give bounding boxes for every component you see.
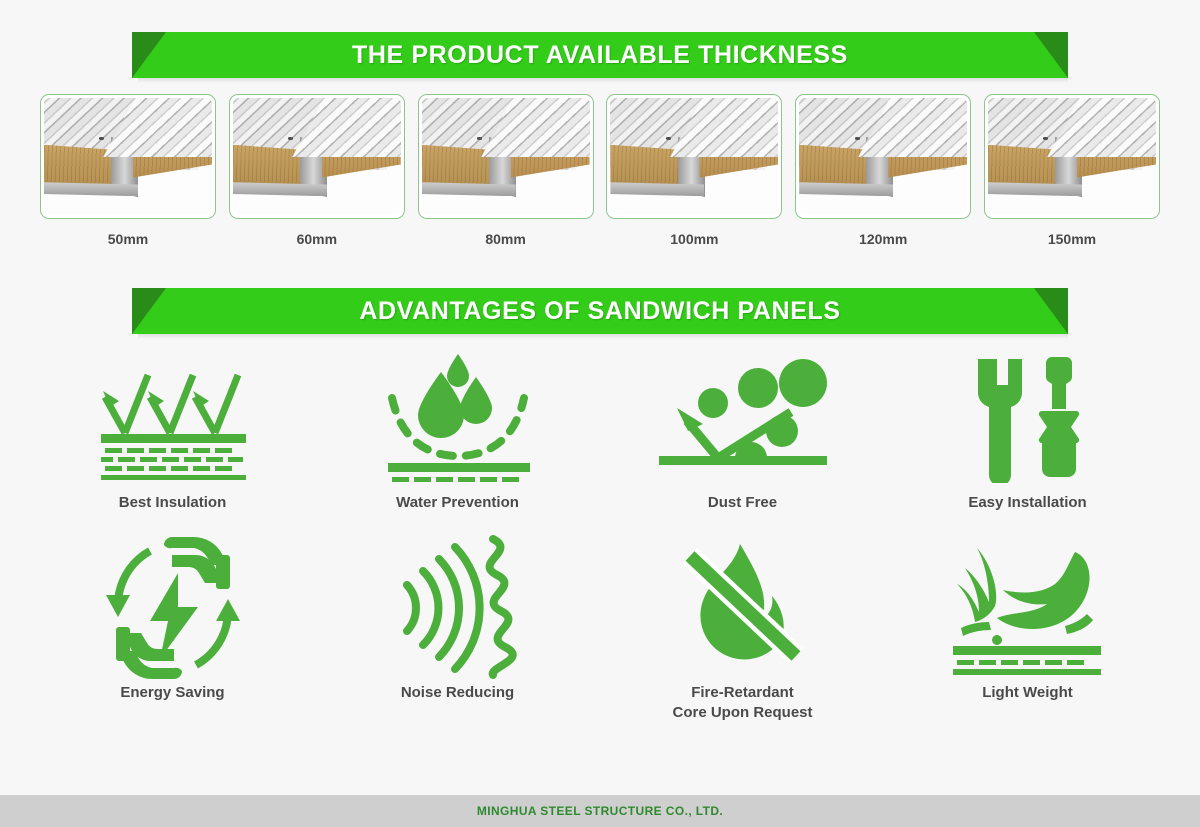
thickness-label: 120mm bbox=[859, 231, 907, 247]
wrench-screwdriver-icon bbox=[960, 350, 1095, 485]
thickness-item[interactable]: 80mm bbox=[418, 94, 594, 247]
thickness-thumbnail-row: 50mm 60mm bbox=[40, 94, 1160, 247]
ribbon-left-fold bbox=[132, 32, 166, 78]
sandwich-panel-thumbnail[interactable] bbox=[795, 94, 971, 219]
company-name: MINGHUA STEEL STRUCTURE CO., LTD. bbox=[477, 804, 723, 818]
advantage-item-light-weight[interactable]: Light Weight bbox=[885, 540, 1170, 740]
thickness-item[interactable]: 150mm bbox=[984, 94, 1160, 247]
advantage-label-line1: Energy Saving bbox=[120, 684, 224, 701]
sandwich-panel-thumbnail[interactable] bbox=[418, 94, 594, 219]
advantage-label-line1: Water Prevention bbox=[396, 494, 519, 511]
screw-icon bbox=[1043, 137, 1048, 140]
ribbon-right-fold bbox=[1034, 288, 1068, 334]
advantage-label-line1: Light Weight bbox=[982, 684, 1073, 701]
advantage-label: Noise Reducing bbox=[401, 683, 514, 703]
footer-bar: MINGHUA STEEL STRUCTURE CO., LTD. bbox=[0, 795, 1200, 827]
thickness-banner-ribbon: THE PRODUCT AVAILABLE THICKNESS bbox=[132, 32, 1068, 78]
thickness-label: 150mm bbox=[1048, 231, 1096, 247]
screw-icon bbox=[666, 137, 671, 140]
advantage-label: Fire-Retardant Core Upon Request bbox=[672, 683, 812, 722]
panel-bottom-metal bbox=[988, 182, 1082, 196]
panel-illustration bbox=[422, 98, 590, 215]
ribbon-left-fold bbox=[132, 288, 166, 334]
dust-particles-icon bbox=[655, 350, 830, 485]
advantage-label: Water Prevention bbox=[396, 493, 519, 513]
advantage-item-easy-installation[interactable]: Easy Installation bbox=[885, 350, 1170, 540]
panel-illustration bbox=[44, 98, 212, 215]
advantage-label: Best Insulation bbox=[119, 493, 227, 513]
advantage-label: Dust Free bbox=[708, 493, 777, 513]
water-droplets-icon bbox=[378, 350, 538, 485]
advantage-label: Energy Saving bbox=[120, 683, 224, 703]
thickness-item[interactable]: 50mm bbox=[40, 94, 216, 247]
ribbon-right-fold bbox=[1034, 32, 1068, 78]
advantage-label-line1: Easy Installation bbox=[968, 494, 1086, 511]
panel-bottom-metal bbox=[44, 182, 138, 196]
thickness-label: 80mm bbox=[485, 231, 525, 247]
heat-reflection-icon bbox=[93, 350, 253, 485]
advantage-label-line1: Dust Free bbox=[708, 494, 777, 511]
panel-bottom-metal bbox=[233, 182, 327, 196]
advantage-label-line1: Fire-Retardant bbox=[691, 684, 794, 701]
advantage-label-line1: Best Insulation bbox=[119, 494, 227, 511]
advantage-label: Easy Installation bbox=[968, 493, 1086, 513]
thickness-banner-title: THE PRODUCT AVAILABLE THICKNESS bbox=[352, 41, 848, 70]
panel-illustration bbox=[799, 98, 967, 215]
screw-icon bbox=[477, 137, 482, 140]
screw-icon bbox=[288, 137, 293, 140]
panel-bottom-metal bbox=[799, 182, 893, 196]
panel-bottom-metal bbox=[422, 182, 516, 196]
advantage-item-noise-reducing[interactable]: Noise Reducing bbox=[315, 540, 600, 740]
sandwich-panel-thumbnail[interactable] bbox=[984, 94, 1160, 219]
thickness-item[interactable]: 120mm bbox=[795, 94, 971, 247]
advantages-banner: ADVANTAGES OF SANDWICH PANELS bbox=[132, 288, 1068, 334]
thickness-label: 60mm bbox=[297, 231, 337, 247]
advantage-item-water-prevention[interactable]: Water Prevention bbox=[315, 350, 600, 540]
thickness-label: 50mm bbox=[108, 231, 148, 247]
thickness-banner: THE PRODUCT AVAILABLE THICKNESS bbox=[132, 32, 1068, 78]
thickness-item[interactable]: 60mm bbox=[229, 94, 405, 247]
thickness-label: 100mm bbox=[670, 231, 718, 247]
sandwich-panel-thumbnail[interactable] bbox=[229, 94, 405, 219]
sandwich-panel-thumbnail[interactable] bbox=[40, 94, 216, 219]
thickness-item[interactable]: 100mm bbox=[606, 94, 782, 247]
ribbon-shadow bbox=[138, 78, 1068, 83]
sandwich-panel-thumbnail[interactable] bbox=[606, 94, 782, 219]
screw-icon bbox=[99, 137, 104, 140]
screw-icon bbox=[855, 137, 860, 140]
advantage-label-line2: Core Upon Request bbox=[672, 703, 812, 723]
hands-lightning-recycle-icon bbox=[98, 540, 248, 675]
panel-illustration bbox=[610, 98, 778, 215]
advantages-banner-ribbon: ADVANTAGES OF SANDWICH PANELS bbox=[132, 288, 1068, 334]
advantages-grid: Best Insulation bbox=[30, 350, 1170, 740]
no-fire-icon bbox=[668, 540, 818, 675]
advantage-item-dust-free[interactable]: Dust Free bbox=[600, 350, 885, 540]
panel-illustration bbox=[988, 98, 1156, 215]
advantage-label-line1: Noise Reducing bbox=[401, 684, 514, 701]
panel-bottom-metal bbox=[610, 182, 704, 196]
advantage-item-energy-saving[interactable]: Energy Saving bbox=[30, 540, 315, 740]
advantage-item-fire-retardant[interactable]: Fire-Retardant Core Upon Request bbox=[600, 540, 885, 740]
ribbon-shadow bbox=[138, 334, 1068, 339]
feather-icon bbox=[945, 540, 1110, 675]
advantage-label: Light Weight bbox=[982, 683, 1073, 703]
advantage-item-best-insulation[interactable]: Best Insulation bbox=[30, 350, 315, 540]
sound-waves-icon bbox=[393, 540, 523, 675]
panel-illustration bbox=[233, 98, 401, 215]
advantages-banner-title: ADVANTAGES OF SANDWICH PANELS bbox=[359, 297, 840, 326]
